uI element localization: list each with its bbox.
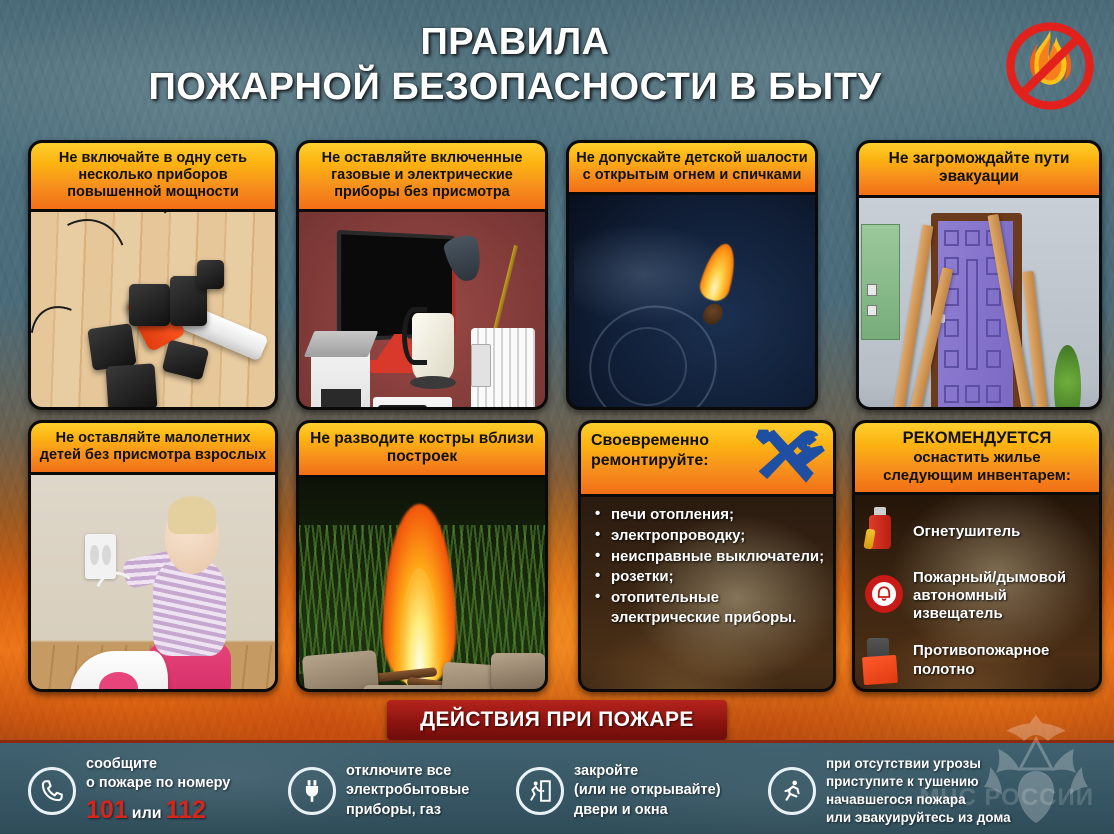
card-recommend[interactable]: РЕКОМЕНДУЕТСЯ оснастить жилье следующим …	[852, 420, 1102, 692]
fire-blanket-icon	[859, 634, 905, 688]
card-evacuation-routes-caption: Не загромождайте пути эвакуации	[859, 143, 1099, 198]
card-evacuation-routes[interactable]: Не загромождайте пути эвакуации	[856, 140, 1102, 410]
list-item: Огнетушитель	[859, 505, 1093, 559]
footer-close-line-1: закройте	[574, 762, 721, 782]
footer-watermark: МЧС РОССИИ	[920, 784, 1094, 812]
footer-item-unplug: отключите все электробытовые приборы, га…	[288, 755, 508, 827]
footer-call-line-2: о пожаре по номеру	[86, 774, 230, 794]
card-children-unattended-caption: Не оставляйте малолетних детей без присм…	[31, 423, 275, 475]
footer-call-line-1: сообщите	[86, 755, 230, 775]
list-item: Противопожарное полотно	[859, 634, 1093, 688]
title-line-1: ПРАВИЛА	[0, 20, 1030, 65]
action-banner: ДЕЙСТВИЯ ПРИ ПОЖАРЕ	[387, 700, 727, 740]
phone-icon	[28, 767, 76, 815]
smoke-detector-icon	[859, 569, 905, 623]
card-recommend-caption-line-3: следующим инвентарем:	[859, 467, 1095, 485]
card-overload-caption: Не включайте в одну сеть несколько прибо…	[31, 143, 275, 212]
poster-header: ПРАВИЛА ПОЖАРНОЙ БЕЗОПАСНОСТИ В БЫТУ	[0, 0, 1114, 132]
footer-unplug-line-1: отключите все	[346, 762, 469, 782]
tools-icon	[751, 425, 827, 495]
page-title: ПРАВИЛА ПОЖАРНОЙ БЕЗОПАСНОСТИ В БЫТУ	[0, 20, 1030, 110]
overloaded-power-strip-photo	[31, 212, 275, 410]
card-repair-caption: Своевременно ремонтируйте:	[581, 423, 833, 497]
list-item: электропроводку;	[589, 526, 827, 546]
card-children-unattended[interactable]: Не оставляйте малолетних детей без присм…	[28, 420, 278, 692]
bonfire-photo	[299, 478, 545, 692]
recommend-item-label: Противопожарное полотно	[913, 642, 1093, 679]
plug-icon	[288, 767, 336, 815]
card-recommend-body: Огнетушитель Пожарный/дымовой автономный…	[855, 495, 1099, 692]
footer-item-call: сообщите о пожаре по номеру 101 или 112	[28, 755, 278, 827]
list-item: неисправные выключатели;	[589, 547, 827, 567]
poster-root: ПРАВИЛА ПОЖАРНОЙ БЕЗОПАСНОСТИ В БЫТУ Не …	[0, 0, 1114, 834]
repair-items-list: печи отопления; электропроводку; неиспра…	[589, 505, 827, 628]
running-person-icon	[768, 767, 816, 815]
emergency-number-101: 101	[86, 796, 128, 824]
card-children-matches[interactable]: Не допускайте детской шалости с открытым…	[566, 140, 818, 410]
emergency-number-112: 112	[166, 796, 206, 824]
list-item: Пожарный/дымовой автономный извещатель	[859, 569, 1093, 624]
card-recommend-caption: РЕКОМЕНДУЕТСЯ оснастить жилье следующим …	[855, 423, 1099, 495]
list-item: печи отопления;	[589, 505, 827, 525]
poster-footer: сообщите о пожаре по номеру 101 или 112	[0, 740, 1114, 834]
blocked-door-photo	[859, 198, 1099, 410]
footer-item-close-doors: закройте (или не открывайте) двери и окн…	[516, 755, 766, 827]
card-repair-caption-line-1: Своевременно	[591, 432, 709, 449]
fire-extinguisher-icon	[859, 505, 905, 559]
no-fire-icon	[998, 14, 1102, 118]
card-overload[interactable]: Не включайте в одну сеть несколько прибо…	[28, 140, 278, 410]
door-exit-icon	[516, 767, 564, 815]
footer-close-line-3: двери и окна	[574, 801, 721, 821]
footer-unplug-line-3: приборы, газ	[346, 801, 469, 821]
card-children-matches-caption: Не допускайте детской шалости с открытым…	[569, 143, 815, 195]
footer-unplug-line-2: электробытовые	[346, 781, 469, 801]
recommend-item-label: Пожарный/дымовой автономный извещатель	[913, 569, 1093, 624]
list-item: отопительные электрические приборы.	[589, 588, 827, 628]
household-appliances-photo	[299, 212, 545, 410]
burning-match-photo	[569, 195, 815, 410]
footer-close-line-2: (или не открывайте)	[574, 781, 721, 801]
footer-call-conjunction: или	[132, 805, 162, 822]
recommend-item-label: Огнетушитель	[913, 523, 1020, 541]
action-banner-label: ДЕЙСТВИЯ ПРИ ПОЖАРЕ	[420, 708, 694, 732]
card-repair[interactable]: Своевременно ремонтируйте: печи отоплени…	[578, 420, 836, 692]
card-bonfires[interactable]: Не разводите костры вблизи построек	[296, 420, 548, 692]
card-unattended-appliances[interactable]: Не оставляйте включенные газовые и элект…	[296, 140, 548, 410]
child-at-socket-photo	[31, 475, 275, 692]
card-repair-body: печи отопления; электропроводку; неиспра…	[581, 497, 833, 692]
card-unattended-appliances-caption: Не оставляйте включенные газовые и элект…	[299, 143, 545, 212]
card-bonfires-caption: Не разводите костры вблизи построек	[299, 423, 545, 478]
title-line-2: ПОЖАРНОЙ БЕЗОПАСНОСТИ В БЫТУ	[0, 65, 1030, 110]
card-recommend-caption-line-1: РЕКОМЕНДУЕТСЯ	[859, 429, 1095, 449]
card-repair-caption-line-2: ремонтируйте:	[591, 452, 709, 469]
list-item: розетки;	[589, 567, 827, 587]
card-recommend-caption-line-2: оснастить жилье	[859, 449, 1095, 467]
